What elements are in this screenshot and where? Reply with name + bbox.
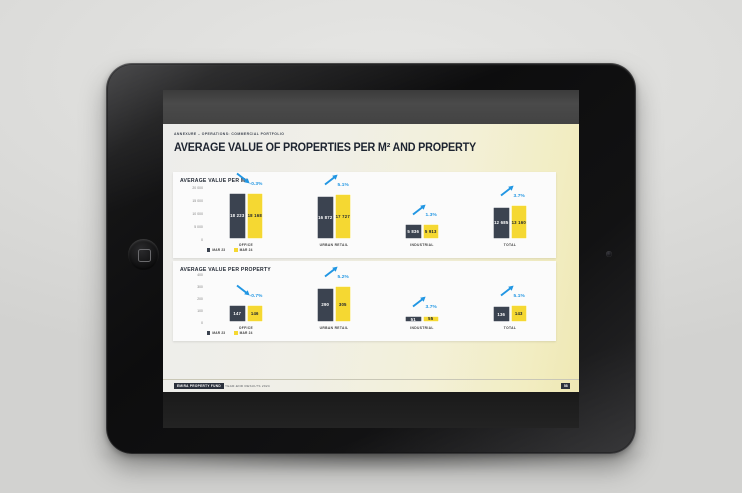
y-axis-tick: 10 000 — [192, 212, 203, 216]
slide-header: ANNEXURE – OPERATIONS: COMMERCIAL PORTFO… — [174, 132, 569, 154]
chart-panel-value-per-property: AVERAGE VALUE PER PROPERTY 4003002001000… — [173, 261, 556, 341]
bar-group: 5155INDUSTRIAL3.7% — [385, 273, 459, 331]
y-axis-tick: 0 — [201, 238, 203, 242]
footer-logo: EMIRA PROPERTY FUND — [174, 383, 224, 389]
footer-subtitle: YEAR-END RESULTS 2024 — [225, 384, 270, 388]
bar-mar-23: 51 — [405, 316, 422, 322]
bar-value-label: 17 727 — [336, 214, 350, 219]
bar-mar-24: 17 727 — [335, 194, 352, 239]
bar-mar-23: 136 — [493, 306, 510, 322]
viewer-top-bar — [163, 90, 579, 124]
bar-value-label: 147 — [233, 311, 241, 316]
bar-mar-24: 146 — [247, 305, 264, 322]
viewer-bottom-bar — [163, 392, 579, 428]
arrow-up-icon — [500, 284, 517, 302]
arrow-down-icon — [236, 172, 253, 190]
bar-value-label: 18 168 — [248, 213, 262, 218]
y-axis-chart-1: 20 00015 00010 0005 0000 — [179, 188, 203, 240]
category-label: OFFICE — [209, 326, 283, 330]
y-axis-tick: 0 — [201, 321, 203, 325]
arrow-up-icon — [412, 203, 429, 221]
slide-footer: EMIRA PROPERTY FUND YEAR-END RESULTS 202… — [163, 379, 579, 392]
home-button[interactable] — [128, 239, 159, 270]
presentation-slide: ANNEXURE – OPERATIONS: COMMERCIAL PORTFO… — [163, 124, 579, 392]
bar-mar-23: 16 872 — [317, 196, 334, 239]
bar-group: 136143TOTAL5.1% — [473, 273, 547, 331]
bar-value-label: 305 — [339, 302, 347, 307]
category-label: URBAN RETAIL — [297, 326, 371, 330]
bar-group: 5 8365 913INDUSTRIAL1.3% — [385, 186, 459, 248]
legend-item: MAR 23 — [207, 331, 225, 335]
arrow-up-icon — [500, 184, 517, 202]
plot-area-chart-1: 18 22318 168OFFICE-0.3%16 87217 727URBAN… — [205, 186, 550, 248]
bar-group: 16 87217 727URBAN RETAIL5.1% — [297, 186, 371, 248]
bar-group: 12 68513 160TOTAL3.7% — [473, 186, 547, 248]
category-label: OFFICE — [209, 243, 283, 247]
bar-value-label: 143 — [515, 311, 523, 316]
arrow-up-icon — [412, 295, 429, 313]
plot-area-chart-2: 147146OFFICE-0.7%290305URBAN RETAIL5.2%5… — [205, 273, 550, 331]
legend-label: MAR 24 — [240, 331, 253, 335]
bar-mar-24: 18 168 — [247, 193, 264, 239]
y-axis-tick: 100 — [197, 309, 203, 313]
legend-swatch — [207, 331, 210, 334]
arrow-down-icon — [236, 284, 253, 302]
chart-panel-value-per-sqm: AVERAGE VALUE PER m² 20 00015 00010 0005… — [173, 172, 556, 258]
bar-group: 290305URBAN RETAIL5.2% — [297, 273, 371, 331]
bar-value-label: 12 685 — [494, 220, 508, 225]
bar-mar-24: 13 160 — [511, 205, 528, 239]
bar-mar-23: 18 223 — [229, 193, 246, 239]
legend-chart-1: MAR 23MAR 24 — [207, 248, 253, 252]
category-label: INDUSTRIAL — [385, 326, 459, 330]
bar-mar-23: 290 — [317, 288, 334, 322]
bar-mar-23: 5 836 — [405, 224, 422, 239]
y-axis-chart-2: 4003002001000 — [179, 275, 203, 323]
slide-kicker: ANNEXURE – OPERATIONS: COMMERCIAL PORTFO… — [174, 132, 569, 136]
bar-value-label: 146 — [251, 311, 259, 316]
arrow-up-icon — [324, 173, 341, 191]
bar-value-label: 18 223 — [230, 213, 244, 218]
bar-value-label: 16 872 — [318, 215, 332, 220]
y-axis-tick: 5 000 — [194, 225, 203, 229]
tablet-screen[interactable]: ANNEXURE – OPERATIONS: COMMERCIAL PORTFO… — [163, 90, 579, 428]
bar-value-label: 13 160 — [512, 220, 526, 225]
bar-mar-23: 12 685 — [493, 207, 510, 239]
category-label: TOTAL — [473, 243, 547, 247]
bar-value-label: 51 — [411, 317, 416, 322]
legend-swatch — [207, 248, 210, 251]
bar-mar-24: 305 — [335, 286, 352, 322]
bar-group: 18 22318 168OFFICE-0.3% — [209, 186, 283, 248]
y-axis-tick: 400 — [197, 273, 203, 277]
y-axis-tick: 200 — [197, 297, 203, 301]
legend-swatch — [234, 331, 237, 334]
bar-mar-23: 147 — [229, 305, 246, 322]
bar-value-label: 136 — [497, 312, 505, 317]
bar-value-label: 55 — [428, 316, 433, 321]
arrow-up-icon — [324, 265, 341, 283]
front-camera-icon — [606, 251, 612, 257]
bar-mar-24: 143 — [511, 305, 528, 322]
y-axis-tick: 20 000 — [192, 186, 203, 190]
footer-page-number: 58 — [561, 383, 570, 389]
bar-group: 147146OFFICE-0.7% — [209, 273, 283, 331]
legend-swatch — [234, 248, 237, 251]
bar-value-label: 5 836 — [407, 229, 419, 234]
legend-label: MAR 23 — [212, 248, 225, 252]
slide-title: AVERAGE VALUE OF PROPERTIES PER m² AND P… — [174, 141, 541, 154]
legend-label: MAR 24 — [240, 248, 253, 252]
legend-item: MAR 23 — [207, 248, 225, 252]
legend-label: MAR 23 — [212, 331, 225, 335]
bar-value-label: 290 — [321, 302, 329, 307]
y-axis-tick: 300 — [197, 285, 203, 289]
bar-mar-24: 55 — [423, 316, 440, 322]
legend-item: MAR 24 — [234, 331, 252, 335]
bar-mar-24: 5 913 — [423, 224, 440, 239]
home-square-icon — [138, 249, 151, 262]
category-label: INDUSTRIAL — [385, 243, 459, 247]
legend-chart-2: MAR 23MAR 24 — [207, 331, 253, 335]
y-axis-tick: 15 000 — [192, 199, 203, 203]
category-label: URBAN RETAIL — [297, 243, 371, 247]
legend-item: MAR 24 — [234, 248, 252, 252]
category-label: TOTAL — [473, 326, 547, 330]
tablet-device: ANNEXURE – OPERATIONS: COMMERCIAL PORTFO… — [106, 63, 636, 454]
bar-value-label: 5 913 — [425, 229, 437, 234]
